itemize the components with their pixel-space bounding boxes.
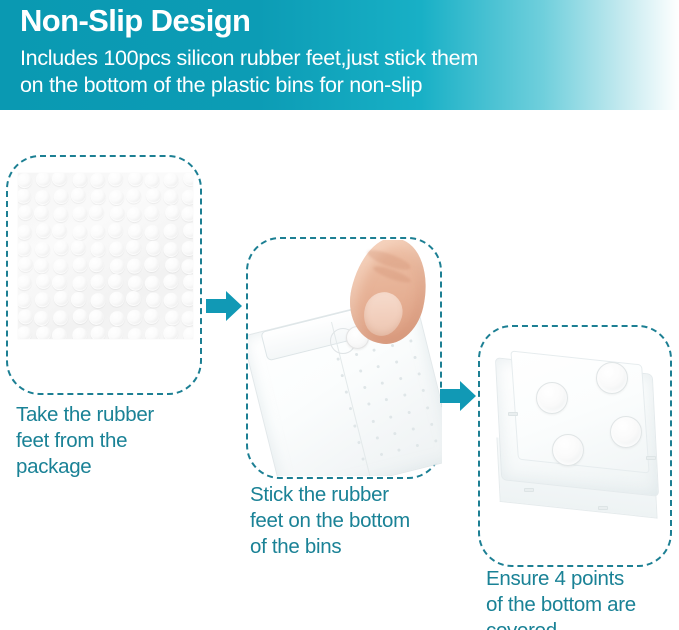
rubber-foot-dot xyxy=(164,293,179,308)
bin-texture-dot xyxy=(391,344,395,348)
bin-texture-dot xyxy=(363,386,367,390)
rubber-foot-dot xyxy=(91,173,106,188)
rubber-foot-corner-3 xyxy=(552,434,584,466)
rubber-foot-dot xyxy=(147,241,162,256)
bin-texture-dot xyxy=(373,348,377,352)
bin-texture-dot xyxy=(422,389,426,393)
rubber-foot-dot xyxy=(145,225,160,240)
rubber-foot-dot xyxy=(52,275,67,290)
rubber-foot-dot xyxy=(182,292,193,307)
rubber-foot-dot xyxy=(71,292,86,307)
rubber-foot-dot xyxy=(182,207,193,222)
rubber-foot-dot xyxy=(108,223,123,238)
rubber-foot-dot xyxy=(127,259,142,274)
rubber-foot-dot xyxy=(18,275,31,290)
rubber-foot-dot xyxy=(89,310,104,325)
rubber-foot-dot xyxy=(72,225,87,240)
rubber-foot-dot xyxy=(54,259,69,274)
rubber-foot-dot xyxy=(34,206,49,221)
rubber-foot-dot xyxy=(73,309,88,324)
rubber-foot-dot xyxy=(73,173,88,188)
rubber-foot-dot xyxy=(182,190,193,205)
rubber-foot-dot xyxy=(108,274,123,289)
rubber-foot-dot xyxy=(182,241,193,256)
bin-texture-dot xyxy=(408,410,412,414)
rubber-foot-dot xyxy=(146,293,161,308)
rubber-foot-dot xyxy=(35,190,50,205)
rubber-foot-dot xyxy=(18,173,32,188)
rubber-foot-dot xyxy=(183,275,193,290)
step-3-caption: Ensure 4 points of the bottom are covere… xyxy=(486,566,679,630)
rubber-foot-dot xyxy=(127,208,142,223)
bin-texture-dot xyxy=(354,353,358,357)
rubber-feet-grid xyxy=(18,173,193,339)
rubber-foot-dot xyxy=(128,224,143,239)
rubber-foot-dot xyxy=(110,207,125,222)
rubber-foot-dot xyxy=(128,328,143,339)
rubber-foot-dot xyxy=(126,291,141,306)
rubber-foot-dot xyxy=(34,258,49,273)
bin-tab-bottom-left xyxy=(524,488,534,492)
rubber-foot-dot xyxy=(108,173,123,186)
arrow-step2-to-step3 xyxy=(438,379,478,413)
bin-texture-dot xyxy=(357,441,361,445)
rubber-foot-dot xyxy=(182,311,193,326)
bin-texture-dot xyxy=(413,356,417,360)
rubber-foot-dot xyxy=(36,173,51,187)
bin-texture-dot xyxy=(345,391,349,395)
rubber-foot-dot xyxy=(109,190,124,205)
page-title: Non-Slip Design xyxy=(20,2,250,40)
bin-texture-dot xyxy=(403,394,407,398)
rubber-foot-dot xyxy=(34,311,49,326)
rubber-foot-dot xyxy=(145,309,160,324)
bin-texture-dot xyxy=(389,415,393,419)
bin-texture-dot xyxy=(426,406,430,410)
rubber-foot-dot xyxy=(18,294,31,309)
bin-texture-dot xyxy=(377,365,381,369)
rubber-foot-dot xyxy=(128,276,143,291)
bin-texture-dot xyxy=(379,453,383,457)
rubber-foot-dot xyxy=(91,242,106,257)
rubber-foot-dot xyxy=(145,257,160,272)
rubber-foot-dot xyxy=(91,224,106,239)
rubber-foot-dot xyxy=(145,327,160,339)
bin-tab-left xyxy=(508,412,518,416)
bin-texture-dot xyxy=(395,360,399,364)
rubber-foot-dot xyxy=(91,294,106,309)
rubber-foot-dot xyxy=(89,205,104,220)
rubber-foot-dot xyxy=(18,257,33,272)
bin-texture-dot xyxy=(340,374,344,378)
rubber-foot-dot xyxy=(72,207,87,222)
rubber-foot-dot xyxy=(127,310,142,325)
bin-texture-dot xyxy=(417,372,421,376)
rubber-foot-dot xyxy=(165,206,180,221)
rubber-foot-dot xyxy=(36,223,51,238)
rubber-foot-dot xyxy=(18,309,33,324)
rubber-foot-dot xyxy=(54,189,69,204)
bin-texture-dot xyxy=(385,398,389,402)
rubber-foot-dot xyxy=(183,223,193,238)
rubber-foot-dot xyxy=(145,173,160,188)
rubber-feet-sheet-image xyxy=(18,173,193,339)
rubber-foot-dot xyxy=(35,242,50,257)
rubber-foot-dot xyxy=(109,311,124,326)
stick-foot-scene-image xyxy=(248,240,442,476)
rubber-foot-dot xyxy=(54,240,69,255)
bin-texture-dot xyxy=(367,403,371,407)
rubber-foot-dot xyxy=(35,293,50,308)
rubber-foot-dot xyxy=(110,259,125,274)
bin-texture-dot xyxy=(412,427,416,431)
bin-texture-dot xyxy=(375,436,379,440)
rubber-foot-corner-1 xyxy=(536,382,568,414)
rubber-foot-dot xyxy=(109,292,124,307)
rubber-foot-dot xyxy=(126,240,141,255)
rubber-foot-dot xyxy=(18,326,31,339)
bin-tab-right xyxy=(646,456,656,460)
bin-texture-dot xyxy=(349,407,353,411)
rubber-foot-dot xyxy=(36,326,51,339)
rubber-foot-dot xyxy=(128,173,143,186)
rubber-foot-dot xyxy=(52,223,67,238)
bin-texture-dot xyxy=(361,457,365,461)
rubber-foot-dot xyxy=(52,328,67,339)
step-2-caption: Stick the rubber feet on the bottom of t… xyxy=(250,482,460,560)
rubber-foot-dot xyxy=(73,258,88,273)
rubber-foot-dot xyxy=(54,310,69,325)
bin-tab-bottom-right xyxy=(598,506,608,510)
rubber-foot-dot xyxy=(163,242,178,257)
rubber-foot-dot xyxy=(163,326,178,339)
rubber-foot-dot xyxy=(108,327,123,339)
bin-texture-dot xyxy=(409,339,413,343)
bin-texture-dot xyxy=(393,431,397,435)
bin-texture-dot xyxy=(359,369,363,373)
step-1-caption: Take the rubber feet from the package xyxy=(16,402,216,480)
header-subtitle: Includes 100pcs silicon rubber feet,just… xyxy=(20,45,660,99)
rubber-foot-dot xyxy=(18,241,31,256)
rubber-foot-dot xyxy=(18,189,31,204)
header-banner: Non-Slip Design Includes 100pcs silicon … xyxy=(0,0,679,110)
rubber-foot-dot xyxy=(91,190,106,205)
bin-texture-dot xyxy=(381,382,385,386)
covered-bin-scene-image xyxy=(480,328,672,564)
bin-texture-dot xyxy=(399,377,403,381)
rubber-foot-dot xyxy=(147,188,162,203)
rubber-foot-dot xyxy=(109,241,124,256)
rubber-foot-dot xyxy=(182,259,193,274)
rubber-foot-dot xyxy=(89,257,104,272)
rubber-foot-dot xyxy=(71,240,86,255)
rubber-foot-dot xyxy=(52,173,67,186)
rubber-foot-dot xyxy=(72,276,87,291)
rubber-foot-dot xyxy=(145,206,160,221)
rubber-foot-dot xyxy=(163,190,178,205)
arrow-step1-to-step2 xyxy=(204,289,244,323)
bin-texture-dot xyxy=(434,439,438,443)
rubber-foot-dot xyxy=(163,274,178,289)
rubber-foot-dot xyxy=(163,173,178,188)
rubber-foot-dot xyxy=(145,276,160,291)
rubber-foot-corner-4 xyxy=(610,416,642,448)
rubber-foot-dot xyxy=(91,326,106,339)
rubber-foot-dot xyxy=(183,173,193,186)
rubber-foot-dot xyxy=(163,223,178,238)
bin-texture-dot xyxy=(398,448,402,452)
rubber-foot-dot xyxy=(18,206,33,221)
rubber-foot-dot xyxy=(183,327,193,339)
rubber-foot-dot xyxy=(18,225,32,240)
bin-texture-dot xyxy=(430,422,434,426)
rubber-foot-dot xyxy=(72,327,87,339)
rubber-foot-dot xyxy=(36,274,51,289)
infographic-page: Non-Slip Design Includes 100pcs silicon … xyxy=(0,0,679,630)
rubber-foot-dot xyxy=(126,189,141,204)
rubber-foot-dot xyxy=(71,188,86,203)
rubber-foot-dot xyxy=(54,208,69,223)
bin-texture-dot xyxy=(353,424,357,428)
rubber-foot-dot xyxy=(54,291,69,306)
rubber-foot-dot xyxy=(91,275,106,290)
rubber-foot-corner-2 xyxy=(596,362,628,394)
bin-texture-dot xyxy=(416,444,420,448)
rubber-foot-dot xyxy=(165,310,180,325)
bin-texture-dot xyxy=(371,419,375,423)
bin-texture-dot xyxy=(336,357,340,361)
rubber-foot-dot xyxy=(165,258,180,273)
